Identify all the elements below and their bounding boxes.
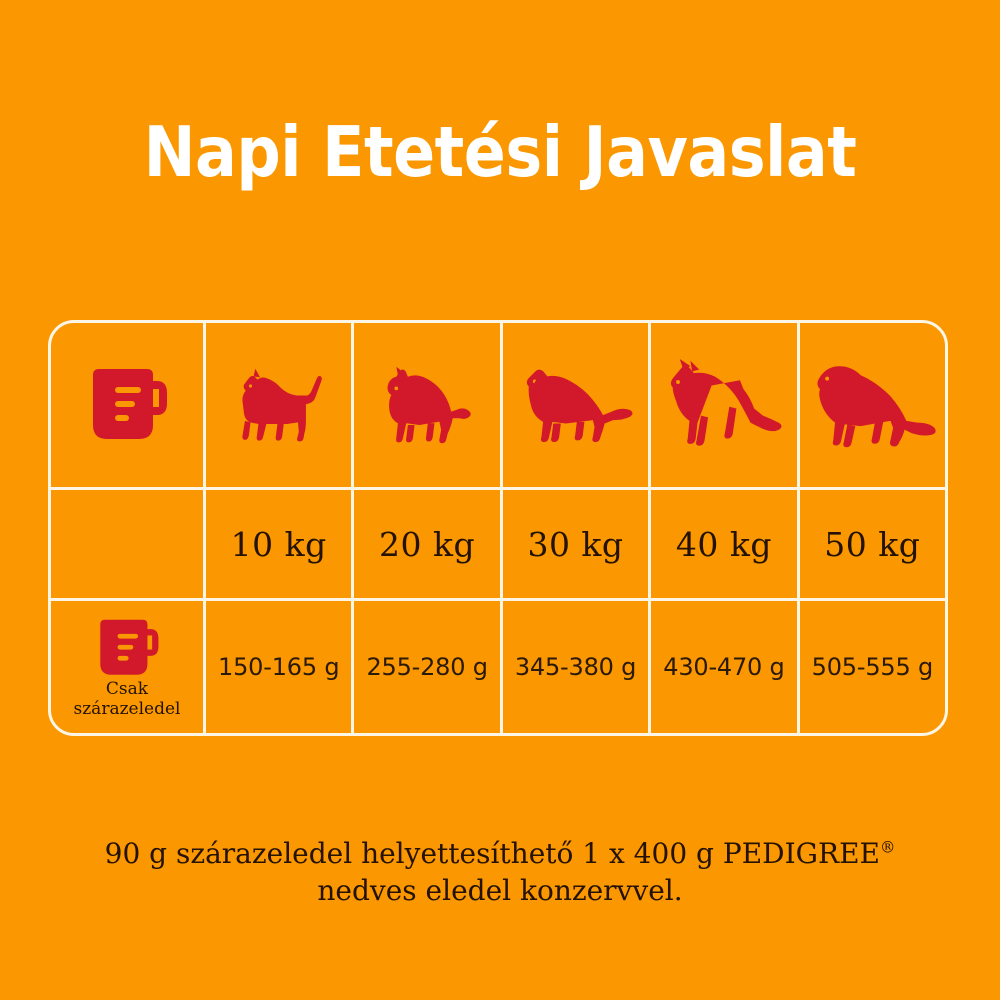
cell-weight-20kg: 20 kg [351, 490, 499, 598]
cell-weight-blank [51, 490, 203, 598]
table-row-weights: 10 kg 20 kg 30 kg 40 kg 50 kg [51, 487, 945, 598]
dog-collie-icon [373, 365, 481, 445]
cell-dry-food-label: Csak szárazeledel [51, 601, 203, 733]
feeding-guide-table: 10 kg 20 kg 30 kg 40 kg 50 kg [48, 320, 948, 736]
cell-weight-30kg: 30 kg [500, 490, 648, 598]
cell-dog-terrier [203, 323, 351, 487]
cell-weight-50kg: 50 kg [797, 490, 945, 598]
cell-dog-retriever [797, 323, 945, 487]
cell-measuring-cup-header [51, 323, 203, 487]
footer-note: 90 g szárazeledel helyettesíthető 1 x 40… [0, 836, 1000, 910]
cell-amount-10kg: 150-165 g [203, 601, 351, 733]
footer-line-1: 90 g szárazeledel helyettesíthető 1 x 40… [105, 837, 880, 870]
cell-dog-setter [500, 323, 648, 487]
cell-dog-collie [351, 323, 499, 487]
cell-weight-10kg: 10 kg [203, 490, 351, 598]
dog-retriever-icon [806, 357, 938, 453]
dog-setter-icon [517, 363, 635, 447]
dog-terrier-icon [231, 367, 327, 443]
footer-line-2: nedves eledel konzervvel. [317, 874, 682, 907]
table-row-amounts: Csak szárazeledel 150-165 g 255-280 g 34… [51, 598, 945, 733]
cell-weight-40kg: 40 kg [648, 490, 796, 598]
measuring-cup-icon [94, 618, 160, 678]
cell-amount-40kg: 430-470 g [648, 601, 796, 733]
cell-dog-shepherd [648, 323, 796, 487]
cell-amount-20kg: 255-280 g [351, 601, 499, 733]
dry-food-label-line2: szárazeledel [74, 700, 181, 720]
measuring-cup-icon [85, 367, 169, 443]
cell-amount-50kg: 505-555 g [797, 601, 945, 733]
dry-food-label-line1: Csak [74, 680, 181, 700]
table-row-icons [51, 323, 945, 487]
cell-amount-30kg: 345-380 g [500, 601, 648, 733]
dog-shepherd-icon [662, 359, 786, 451]
registered-trademark-mark: ® [880, 839, 895, 857]
page-title: Napi Etetési Javaslat [0, 118, 1000, 187]
